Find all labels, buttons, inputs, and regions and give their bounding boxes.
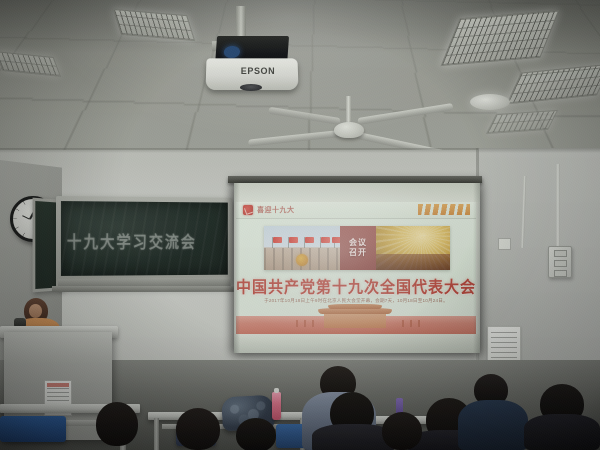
wall-outlet-plate[interactable] bbox=[498, 238, 511, 250]
screen-right-edge bbox=[473, 183, 480, 353]
projection-screen: 喜迎十九大 bbox=[234, 183, 480, 353]
dome-light-icon bbox=[470, 94, 510, 110]
wall-ceiling-trim bbox=[0, 148, 600, 153]
tiananmen-upper-roof bbox=[328, 304, 382, 309]
ceiling-fan-icon bbox=[334, 122, 364, 138]
blackboard-text: 十九大学习交流会 bbox=[67, 229, 224, 253]
slide-title: 中国共产党第十九次全国代表大会 bbox=[236, 275, 476, 297]
screen-roller-housing bbox=[228, 176, 482, 183]
slide-banner: 会议 召开 bbox=[264, 226, 450, 270]
banner-hall-interior-photo bbox=[376, 226, 450, 270]
projected-slide: 喜迎十九大 bbox=[236, 202, 476, 334]
badge-line-1: 会议 bbox=[349, 238, 367, 247]
national-emblem-icon bbox=[296, 254, 308, 266]
tiananmen-gate-icon bbox=[324, 312, 386, 328]
classroom-photo: EPSON 十九大学习交流会 喜迎十九大 bbox=[0, 0, 600, 450]
banner-flags-photo bbox=[264, 226, 340, 270]
projector-lens bbox=[240, 84, 262, 91]
pink-water-bottle bbox=[272, 392, 281, 420]
screen-top-margin bbox=[234, 183, 480, 202]
desk-leg bbox=[154, 418, 159, 450]
slide-logo-text: 喜迎十九大 bbox=[257, 205, 295, 215]
badge-line-2: 召开 bbox=[349, 248, 367, 257]
blackboard: 十九大学习交流会 bbox=[56, 196, 232, 288]
blackboard-ledge bbox=[52, 286, 234, 292]
cpc-emblem-icon bbox=[243, 205, 253, 215]
header-ribbon-graphic bbox=[418, 204, 470, 215]
screen-left-edge bbox=[234, 183, 240, 353]
screen-bottom-margin bbox=[234, 334, 480, 353]
projector-brand-label: EPSON bbox=[228, 66, 288, 76]
banner-badge: 会议 召开 bbox=[340, 226, 376, 270]
light-switch-plate[interactable] bbox=[548, 246, 572, 278]
electrical-conduit bbox=[556, 164, 560, 248]
chair bbox=[0, 416, 66, 442]
blackboard-surface: 十九大学习交流会 bbox=[61, 201, 228, 276]
